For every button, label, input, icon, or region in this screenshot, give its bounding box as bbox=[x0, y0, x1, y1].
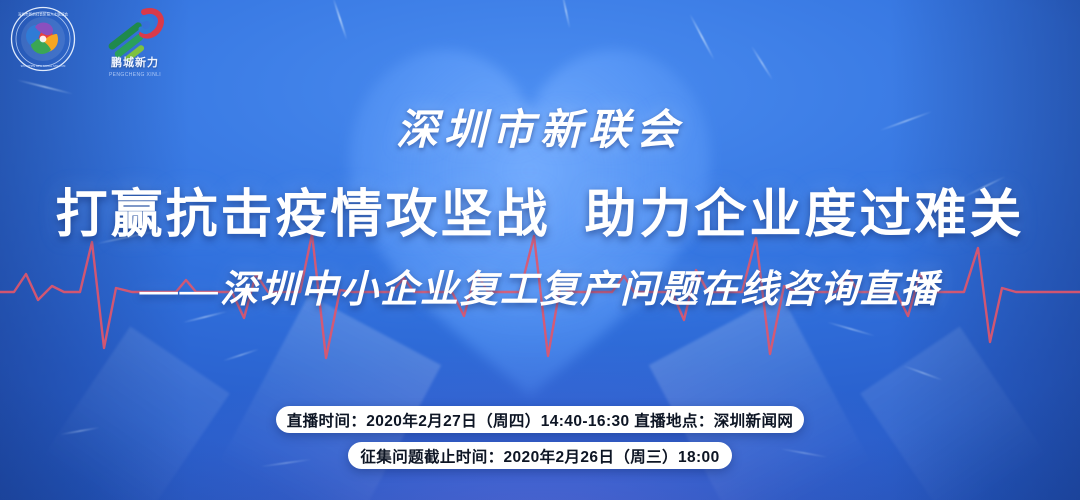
pengcheng-xinli-logo-icon: 鹏城新力 PENGCHENG XINLI bbox=[98, 6, 172, 78]
headline-part1: 打赢抗击疫情攻坚战 bbox=[55, 186, 550, 244]
headline-part2: 助力企业度过难关 bbox=[585, 186, 1025, 244]
question-deadline-badge: 征集问题截止时间：2020年2月26日（周三）18:00 bbox=[348, 442, 732, 469]
pengcheng-name-pinyin: PENGCHENG XINLI bbox=[98, 72, 172, 78]
shenzhen-new-social-stratum-emblem-icon: 深圳市新的社会阶层人士联谊会 SHENZHEN NEW SOCIAL STRAT… bbox=[10, 6, 76, 72]
svg-text:深圳市新的社会阶层人士联谊会: 深圳市新的社会阶层人士联谊会 bbox=[18, 12, 69, 17]
organization-title: 深圳市新联会 bbox=[0, 96, 1080, 157]
broadcast-time-location-badge: 直播时间：2020年2月27日（周四）14:40-16:30 直播地点：深圳新闻… bbox=[276, 406, 804, 433]
logo-group: 深圳市新的社会阶层人士联谊会 SHENZHEN NEW SOCIAL STRAT… bbox=[10, 6, 172, 78]
subtitle: ——深圳中小企业复工复产问题在线咨询直播 bbox=[0, 258, 1080, 313]
headline: 打赢抗击疫情攻坚战助力企业度过难关 bbox=[0, 172, 1080, 247]
pengcheng-name-cn: 鹏城新力 bbox=[98, 54, 172, 70]
svg-text:SHENZHEN NEW SOCIAL STRATUM: SHENZHEN NEW SOCIAL STRATUM bbox=[21, 64, 66, 68]
live-stream-poster: 深圳市新的社会阶层人士联谊会 SHENZHEN NEW SOCIAL STRAT… bbox=[0, 0, 1080, 500]
